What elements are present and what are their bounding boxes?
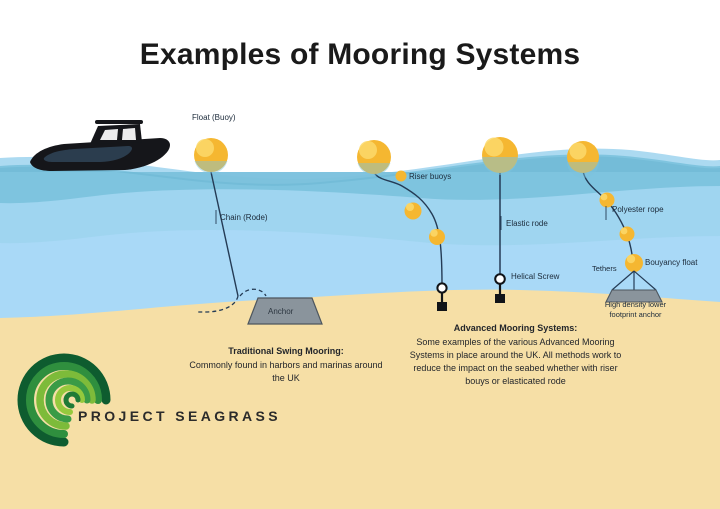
hd-anchor-line-1: High density lower (605, 300, 666, 309)
float-buoy-submerged (195, 161, 228, 174)
label-anchor: Anchor (268, 307, 293, 316)
boat-icon (30, 120, 170, 171)
caption-advanced-line-1: Some examples of the various Advanced (416, 337, 579, 347)
caption-advanced-mooring-systems: Advanced Mooring Systems: Some examples … (403, 322, 628, 388)
label-riser-buoys: Riser buoys (409, 172, 451, 181)
label-tethers: Tethers (592, 264, 617, 273)
label-chain-rode: Chain (Rode) (220, 213, 268, 222)
label-elastic-rode: Elastic rode (506, 219, 548, 228)
label-helical-screw: Helical Screw (511, 272, 559, 281)
brand-logo (14, 352, 284, 448)
caption-advanced-line-5: elasticated rode (502, 376, 566, 386)
helical-screw-ring-1 (437, 283, 446, 292)
label-float-buoy: Float (Buoy) (192, 113, 236, 122)
hd-anchor-line-2: footprint anchor (609, 310, 661, 319)
label-buoyancy-float: Bouyancy float (645, 258, 697, 267)
seagrass-spiral-icon (14, 352, 114, 448)
helical-screw-ring-2 (495, 274, 505, 284)
infographic-canvas: Examples of Mooring Systems (0, 0, 720, 509)
helical-screw-base-2 (495, 294, 505, 303)
label-polyester-rope: Polyester rope (612, 205, 664, 214)
riser-buoy-legend-dot (396, 171, 407, 182)
caption-advanced-heading: Advanced Mooring Systems: (403, 322, 628, 335)
label-high-density-anchor: High density lower footprint anchor (578, 300, 693, 319)
helical-screw-base-1 (437, 302, 447, 311)
brand-name: PROJECT SEAGRASS (78, 408, 281, 424)
